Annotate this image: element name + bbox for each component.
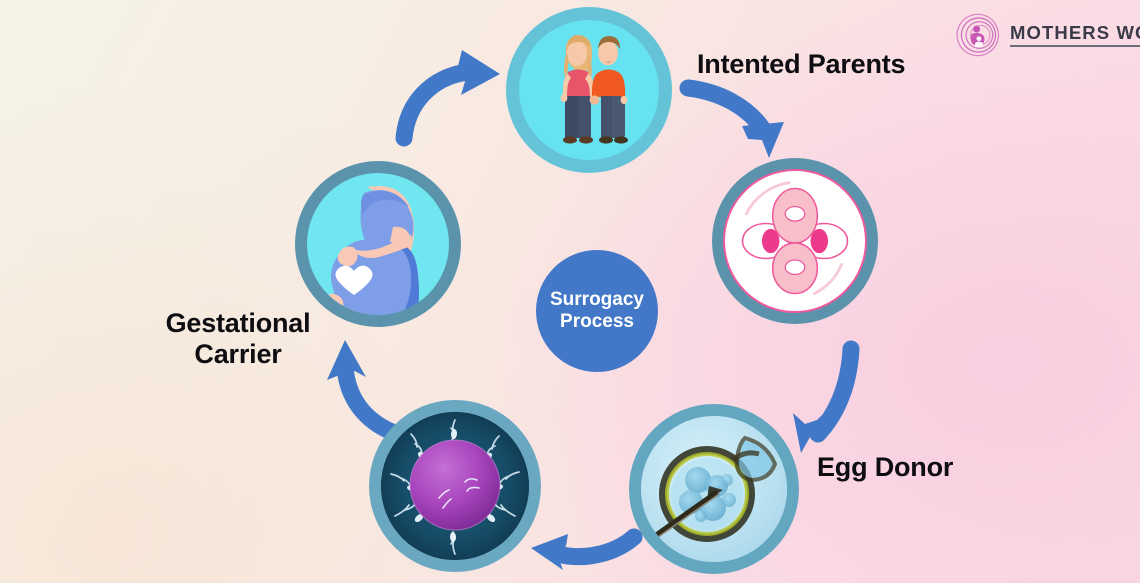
node-egg-donor-art [723, 169, 867, 313]
arrow-ivf-to-fertilization [531, 534, 634, 570]
node-fertilization-art [381, 412, 529, 560]
label-gestational-carrier-line2: Carrier [160, 339, 316, 370]
arrow-egg-to-ivf [793, 349, 851, 453]
infographic-canvas: MOTHERS WORLDS [0, 0, 1140, 583]
node-gestational-carrier[interactable] [295, 161, 461, 327]
node-egg-donor[interactable] [712, 158, 878, 324]
center-hub-title-line2: Process [550, 311, 644, 333]
pregnant-woman-heart-icon [307, 173, 449, 315]
label-egg-donor: Egg Donor [817, 452, 953, 483]
label-gestational-carrier-line1: Gestational [160, 308, 316, 339]
sperm-fertilizing-ovum-icon [381, 412, 529, 560]
brand-underline [1010, 45, 1140, 47]
label-intended-parents: Intented Parents [697, 49, 905, 80]
center-hub-title: Surrogacy Process [550, 289, 644, 334]
center-hub-title-line1: Surrogacy [550, 289, 644, 311]
node-intended-parents[interactable] [506, 7, 672, 173]
couple-illustration-icon [519, 20, 659, 160]
arrow-parents-to-egg [688, 88, 784, 158]
label-gestational-carrier: Gestational Carrier [160, 308, 316, 369]
ova-cells-dish-icon [725, 171, 865, 311]
node-ivf-embryo-art [641, 416, 787, 562]
node-ivf-embryo[interactable] [629, 404, 799, 574]
arrow-fertilization-to-carrier [327, 340, 392, 432]
arrow-carrier-to-parents [404, 50, 500, 138]
node-gestational-carrier-art [307, 173, 449, 315]
center-hub: Surrogacy Process [536, 250, 658, 372]
brand-name: MOTHERS WORLDS [1010, 23, 1140, 42]
node-fertilization[interactable] [369, 400, 541, 572]
brand-logo: MOTHERS WORLDS [955, 12, 1140, 58]
node-intended-parents-art [519, 20, 659, 160]
ivf-micropipette-embryo-icon [641, 416, 787, 562]
mother-and-baby-swirl-icon [955, 12, 1001, 58]
